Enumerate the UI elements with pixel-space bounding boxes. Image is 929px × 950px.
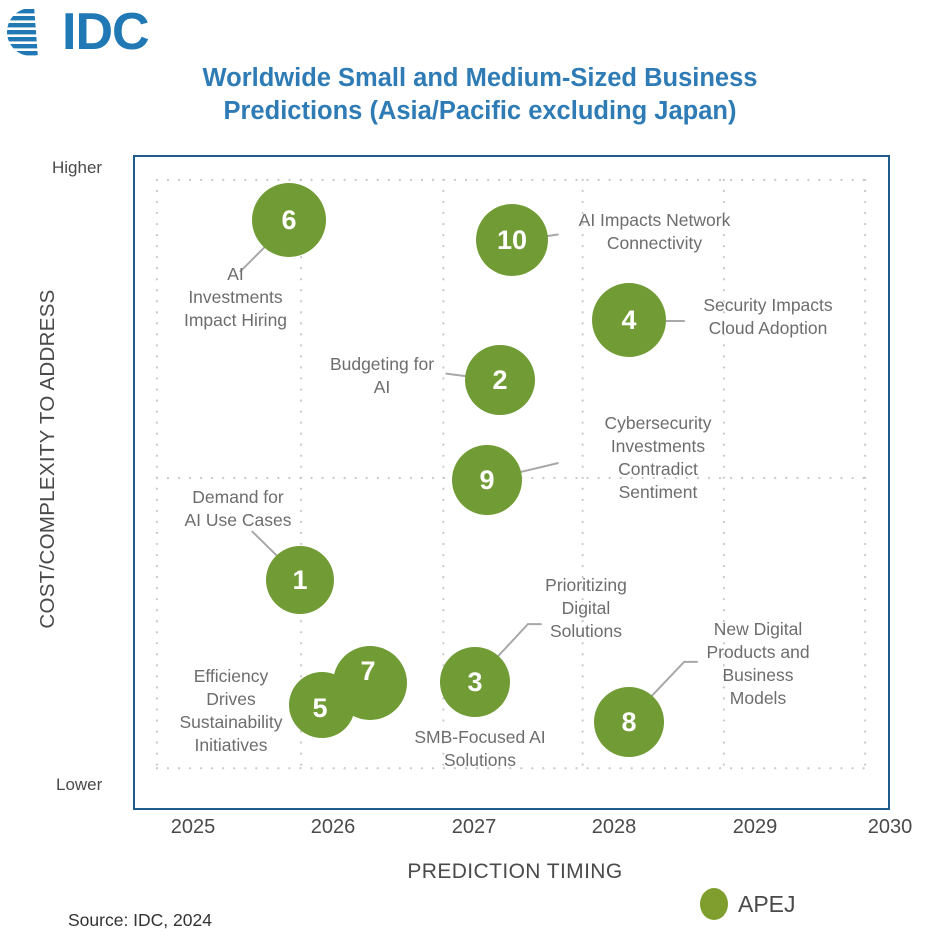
- bubble-label-4: 4: [621, 305, 636, 336]
- callout-4: Security Impacts Cloud Adoption: [679, 294, 857, 340]
- bubble-label-3: 3: [467, 667, 482, 698]
- legend: APEJ: [700, 888, 796, 920]
- callout-10: AI Impacts Network Connectivity: [557, 209, 752, 255]
- bubble-label-7: 7: [360, 656, 375, 687]
- legend-label-apej: APEJ: [738, 891, 796, 918]
- bubble-2[interactable]: 2: [465, 345, 535, 415]
- bubble-label-8: 8: [621, 707, 636, 738]
- chart-title-line2: Predictions (Asia/Pacific excluding Japa…: [90, 95, 870, 128]
- chart-title: Worldwide Small and Medium-Sized Busines…: [90, 62, 870, 128]
- bubble-3[interactable]: 3: [440, 647, 510, 717]
- bubble-label-1: 1: [292, 565, 307, 596]
- chart-title-line1: Worldwide Small and Medium-Sized Busines…: [90, 62, 870, 95]
- y-axis-low-label: Lower: [56, 775, 102, 795]
- x-tick-2026: 2026: [288, 816, 378, 839]
- bubble-label-10: 10: [497, 225, 527, 256]
- callout-9: Cybersecurity Investments Contradict Sen…: [578, 412, 738, 504]
- x-tick-2030: 2030: [845, 816, 929, 839]
- callout-2: Budgeting for AI: [313, 353, 451, 399]
- callout-8: New Digital Products and Business Models: [678, 618, 838, 710]
- bubble-label-9: 9: [479, 465, 494, 496]
- idc-logo: IDC: [4, 6, 184, 62]
- bubble-10[interactable]: 10: [476, 204, 548, 276]
- legend-swatch-apej: [700, 888, 728, 920]
- callout-6: AI Investments Impact Hiring: [168, 263, 303, 332]
- x-tick-2028: 2028: [569, 816, 659, 839]
- x-tick-2029: 2029: [710, 816, 800, 839]
- y-axis-title: COST/COMPLEXITY TO ADDRESS: [36, 159, 60, 759]
- idc-globe-icon: [4, 6, 60, 58]
- source-note: Source: IDC, 2024: [68, 910, 212, 931]
- callout-7: SMB-Focused AI Solutions: [389, 726, 571, 772]
- idc-wordmark: IDC: [62, 4, 149, 60]
- bubble-label-2: 2: [492, 365, 507, 396]
- bubble-9[interactable]: 9: [452, 445, 522, 515]
- bubble-label-5: 5: [312, 693, 327, 724]
- x-tick-2027: 2027: [429, 816, 519, 839]
- callout-5: Efficiency Drives Sustainability Initiat…: [158, 665, 304, 757]
- bubble-8[interactable]: 8: [594, 687, 664, 757]
- bubble-4[interactable]: 4: [592, 283, 666, 357]
- bubble-6[interactable]: 6: [252, 183, 326, 257]
- bubble-label-6: 6: [281, 205, 296, 236]
- callout-1: Demand for AI Use Cases: [164, 486, 312, 532]
- bubble-1[interactable]: 1: [266, 546, 334, 614]
- y-axis-high-label: Higher: [52, 158, 102, 178]
- x-tick-2025: 2025: [148, 816, 238, 839]
- callout-3: Prioritizing Digital Solutions: [516, 574, 656, 643]
- x-axis-title: PREDICTION TIMING: [235, 860, 795, 884]
- chart-page: IDC Worldwide Small and Medium-Sized Bus…: [0, 0, 929, 950]
